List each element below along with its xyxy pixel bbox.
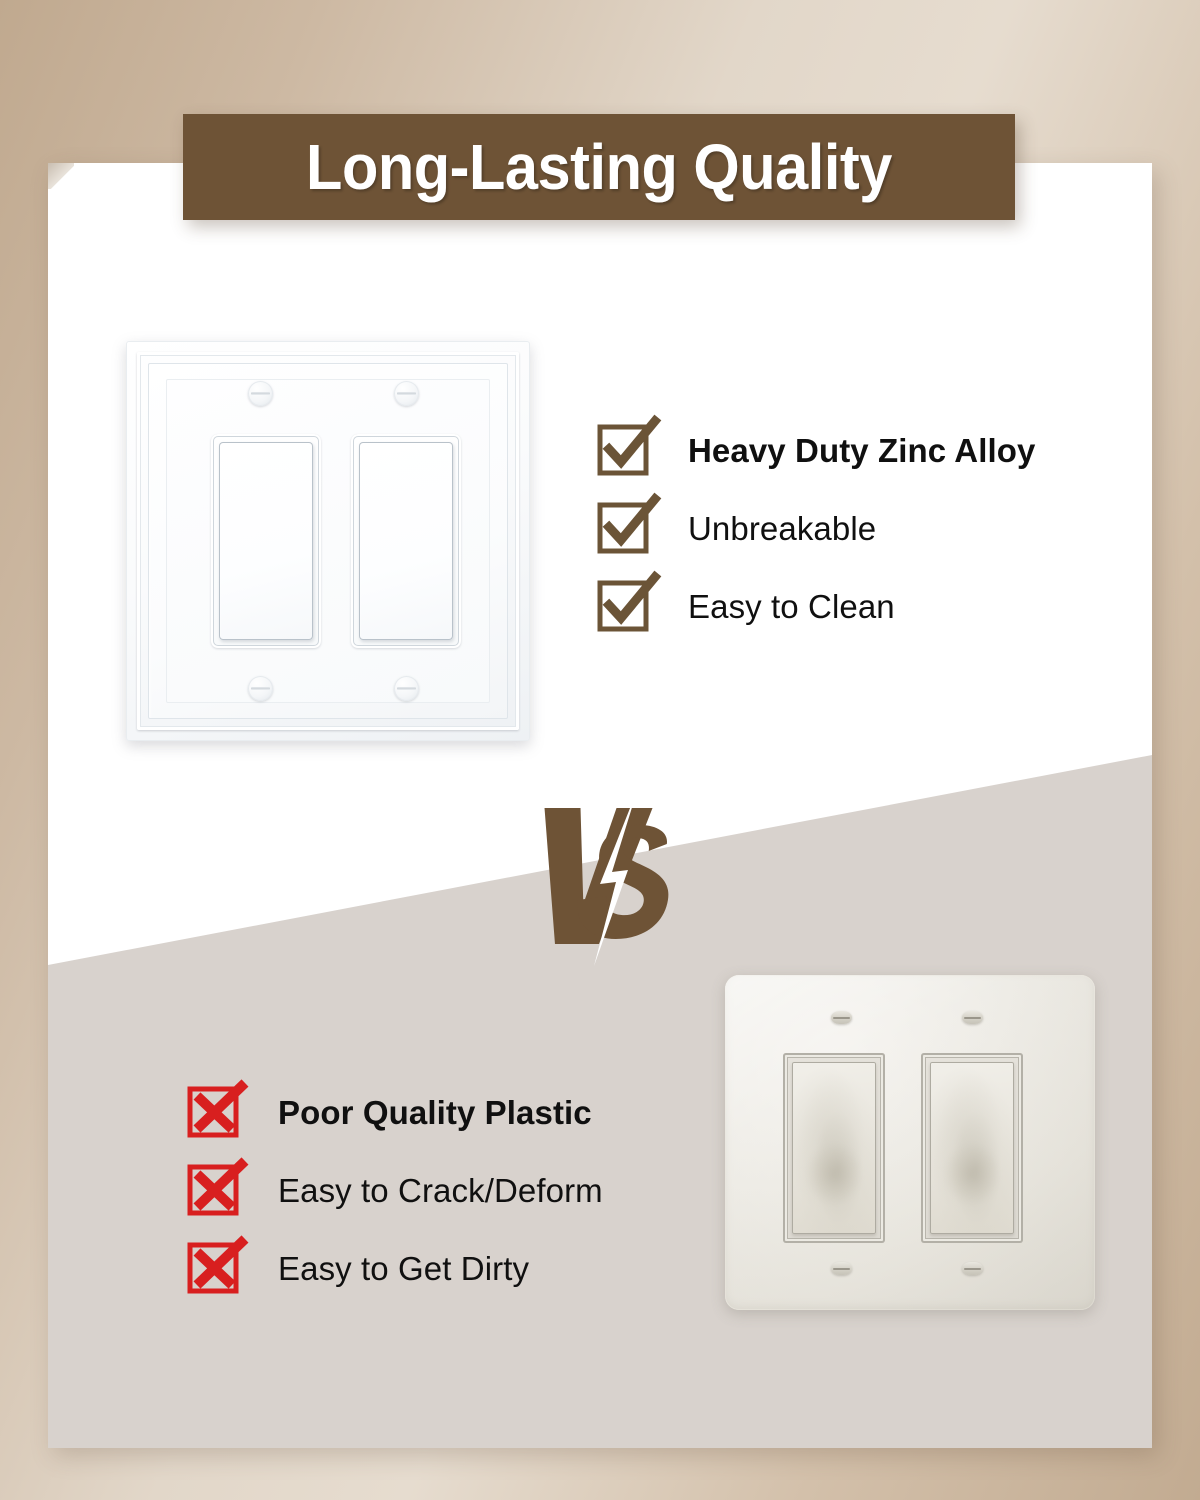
advantage-row: Heavy Duty Zinc Alloy: [598, 412, 1035, 490]
disadvantage-label: Easy to Get Dirty: [278, 1250, 529, 1288]
premium-plate-screw-bottom-right: [394, 676, 419, 701]
dirt-smudge: [945, 1145, 999, 1203]
cheap-plate-sheen: [725, 975, 1095, 1310]
disadvantage-row: Poor Quality Plastic: [188, 1074, 603, 1152]
cheap-wall-plate-image: [725, 975, 1095, 1310]
premium-wall-plate-image: [126, 341, 530, 741]
card-folded-corner: [48, 163, 74, 189]
premium-plate-screw-top-left: [248, 381, 273, 406]
advantage-label: Heavy Duty Zinc Alloy: [688, 432, 1035, 470]
advantage-label: Easy to Clean: [688, 588, 895, 626]
title-banner: Long-Lasting Quality: [183, 114, 1015, 220]
versus-letters: [523, 808, 680, 944]
cheap-plate-screw-bottom-left: [831, 1262, 852, 1275]
content-card: Heavy Duty Zinc Alloy Unbreakable Easy t…: [48, 163, 1152, 1448]
check-icon: [598, 579, 654, 635]
premium-plate-rocker-opening-left: [211, 434, 321, 648]
cross-icon: [188, 1085, 244, 1141]
advantages-list: Heavy Duty Zinc Alloy Unbreakable Easy t…: [598, 412, 1035, 646]
cross-icon: [188, 1241, 244, 1297]
disadvantages-list: Poor Quality Plastic Easy to Crack/Defor…: [188, 1074, 603, 1308]
premium-rocker-switch-right: [359, 442, 453, 640]
disadvantage-row: Easy to Crack/Deform: [188, 1152, 603, 1230]
cheap-plate-screw-top-right: [962, 1011, 983, 1024]
advantage-row: Unbreakable: [598, 490, 1035, 568]
cheap-plate-rocker-opening-right: [921, 1053, 1023, 1243]
advantage-label: Unbreakable: [688, 510, 876, 548]
versus-divider: [516, 786, 706, 966]
premium-plate-screw-top-right: [394, 381, 419, 406]
cross-icon: [188, 1163, 244, 1219]
cheap-plate-screw-bottom-right: [962, 1262, 983, 1275]
disadvantage-label: Poor Quality Plastic: [278, 1094, 592, 1132]
premium-rocker-switch-left: [219, 442, 313, 640]
cheap-plate-screw-top-left: [831, 1011, 852, 1024]
premium-plate-rocker-opening-right: [351, 434, 461, 648]
cheap-rocker-switch-left: [792, 1062, 876, 1234]
page-title: Long-Lasting Quality: [306, 130, 892, 204]
disadvantage-label: Easy to Crack/Deform: [278, 1172, 603, 1210]
disadvantage-row: Easy to Get Dirty: [188, 1230, 603, 1308]
premium-plate-screw-bottom-left: [248, 676, 273, 701]
cheap-plate-rocker-opening-left: [783, 1053, 885, 1243]
advantage-row: Easy to Clean: [598, 568, 1035, 646]
check-icon: [598, 501, 654, 557]
cheap-rocker-switch-right: [930, 1062, 1014, 1234]
check-icon: [598, 423, 654, 479]
dirt-smudge: [807, 1145, 861, 1203]
